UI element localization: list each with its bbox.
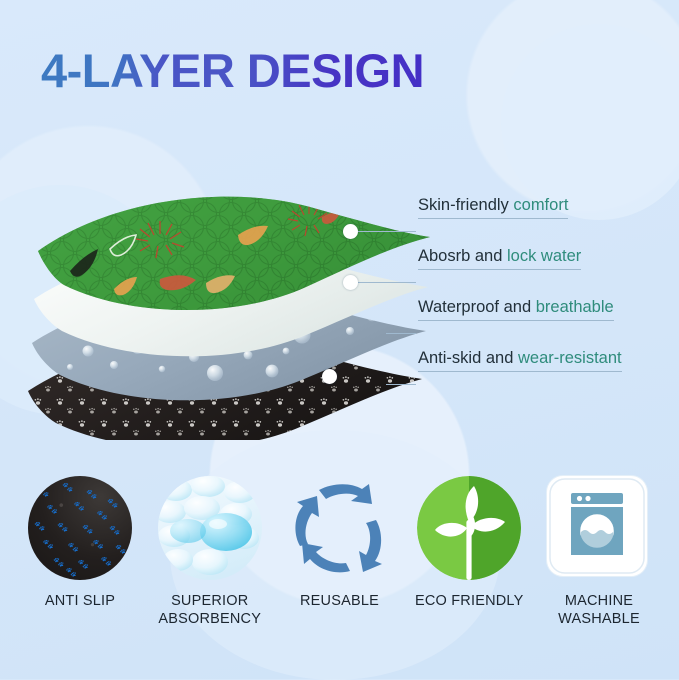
caption-line: WASHABLE	[558, 611, 640, 629]
paw-print-circle-icon: 🐾 🐾 🐾 🐾 🐾 🐾 🐾 🐾 🐾 🐾 🐾 🐾 🐾 🐾 🐾 🐾	[28, 476, 132, 580]
label-accent: comfort	[513, 196, 568, 214]
label-prefix: Anti-skid and	[418, 349, 513, 367]
label-accent: lock water	[507, 247, 581, 265]
label-prefix: Skin-friendly	[418, 196, 509, 214]
caption-line: ANTI SLIP	[45, 593, 115, 611]
feature-superior-absorbency: SUPERIOR ABSORBENCY	[148, 476, 272, 646]
feature-eco-friendly: ECO FRIENDLY	[407, 476, 531, 646]
feature-anti-slip: 🐾 🐾 🐾 🐾 🐾 🐾 🐾 🐾 🐾 🐾 🐾 🐾 🐾 🐾 🐾 🐾	[18, 476, 142, 646]
caption-line: ECO FRIENDLY	[415, 593, 523, 611]
label-prefix: Abosrb and	[418, 247, 502, 265]
title-part-two: DESIGN	[247, 44, 424, 97]
label-accent: wear-resistant	[518, 349, 622, 367]
feature-caption: SUPERIOR ABSORBENCY	[158, 593, 261, 628]
feature-caption: REUSABLE	[300, 593, 379, 611]
layer-label-absorb: Abosrb and lock water	[418, 247, 581, 270]
quilted-water-droplets-icon	[158, 476, 262, 580]
layer-label-group: Skin-friendly comfort Abosrb and lock wa…	[410, 196, 670, 396]
page-title: 4-LAYER DESIGN	[41, 47, 424, 94]
caption-line: MACHINE	[558, 593, 640, 611]
layer-label-skin-friendly: Skin-friendly comfort	[418, 196, 568, 219]
layer-marker-dot-1	[343, 224, 358, 239]
caption-line: ABSORBENCY	[158, 611, 261, 629]
layer-marker-dot-4	[322, 369, 337, 384]
feature-row: 🐾 🐾 🐾 🐾 🐾 🐾 🐾 🐾 🐾 🐾 🐾 🐾 🐾 🐾 🐾 🐾	[0, 476, 679, 646]
title-part-one: 4-LAYER	[41, 44, 234, 97]
infographic-root: 4-LAYER DESIGN	[0, 0, 679, 679]
layer-label-waterproof: Waterproof and breathable	[418, 298, 614, 321]
recycle-arrows-icon	[288, 476, 392, 580]
feature-caption: MACHINE WASHABLE	[558, 593, 640, 628]
caption-line: REUSABLE	[300, 593, 379, 611]
feature-caption: ECO FRIENDLY	[415, 593, 523, 611]
caption-line: SUPERIOR	[158, 593, 261, 611]
layer-marker-dot-2	[343, 275, 358, 290]
label-prefix: Waterproof and	[418, 298, 531, 316]
layer-label-antiskid: Anti-skid and wear-resistant	[418, 349, 622, 372]
decorative-circle-top-right	[501, 24, 679, 220]
feature-caption: ANTI SLIP	[45, 593, 115, 611]
washing-machine-icon	[547, 476, 651, 580]
feature-reusable: REUSABLE	[278, 476, 402, 646]
feature-machine-washable: MACHINE WASHABLE	[537, 476, 661, 646]
leaf-plant-circle-icon	[417, 476, 521, 580]
label-accent: breathable	[536, 298, 614, 316]
layer-stack-illustration	[10, 175, 440, 440]
